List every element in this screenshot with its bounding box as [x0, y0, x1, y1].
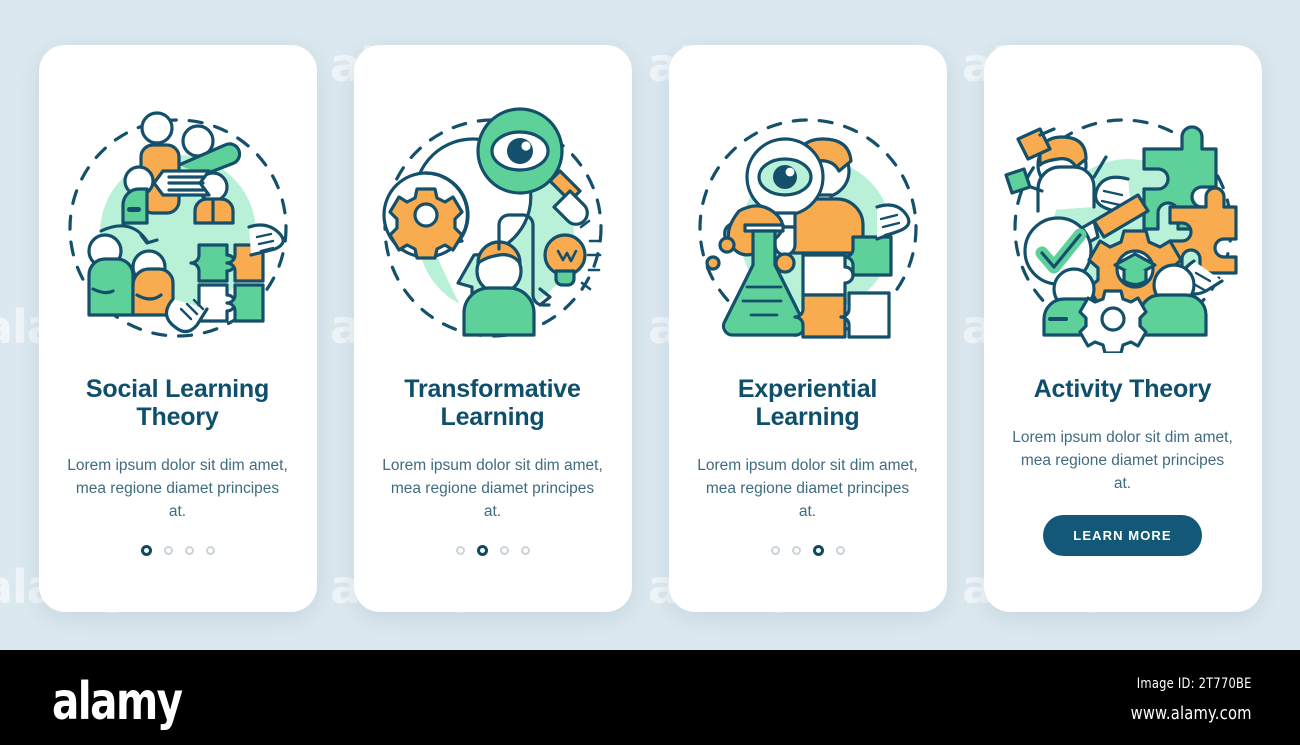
pagination-dot[interactable] [185, 546, 194, 555]
pagination-dots[interactable] [771, 545, 845, 556]
pagination-dot[interactable] [521, 546, 530, 555]
card-body-text: Lorem ipsum dolor sit dim amet, mea regi… [66, 455, 290, 524]
pagination-dot[interactable] [771, 546, 780, 555]
image-id-label: Image ID: 2T770BE [1131, 676, 1252, 692]
footer-meta: Image ID: 2T770BE www.alamy.com [1104, 676, 1252, 724]
card-footer [57, 545, 299, 556]
people-puzzle-collaboration-icon [53, 103, 303, 353]
pagination-dot[interactable] [164, 546, 173, 555]
card-title: Activity Theory [1002, 375, 1244, 403]
card-body-text: Lorem ipsum dolor sit dim amet, mea regi… [696, 455, 920, 524]
card-body-text: Lorem ipsum dolor sit dim amet, mea regi… [1011, 427, 1235, 496]
pagination-dots[interactable] [141, 545, 215, 556]
learn-more-button[interactable]: LEARN MORE [1043, 515, 1201, 556]
pagination-dot[interactable] [813, 545, 824, 556]
card-title: Experiential Learning [687, 375, 929, 431]
card-title: Social Learning Theory [57, 375, 299, 431]
pagination-dot[interactable] [456, 546, 465, 555]
onboarding-card-activity-theory[interactable]: Activity Theory Lorem ipsum dolor sit di… [984, 45, 1262, 612]
pagination-dot[interactable] [141, 545, 152, 556]
gears-graduation-puzzle-icon [998, 103, 1248, 353]
card-footer [687, 545, 929, 556]
onboarding-card-experiential-learning[interactable]: Experiential Learning Lorem ipsum dolor … [669, 45, 947, 612]
flask-magnifier-puzzle-icon [683, 103, 933, 353]
stock-photo-footer-bar: alamy Image ID: 2T770BE www.alamy.com [0, 650, 1300, 745]
card-footer: LEARN MORE [1002, 515, 1244, 556]
website-url-label: www.alamy.com [1131, 703, 1252, 724]
card-title: Transformative Learning [372, 375, 614, 431]
onboarding-card-transformative-learning[interactable]: Transformative Learning Lorem ipsum dolo… [354, 45, 632, 612]
alamy-logo: alamy [52, 672, 182, 732]
pagination-dot[interactable] [836, 546, 845, 555]
card-footer [372, 545, 614, 556]
onboarding-card-social-learning-theory[interactable]: Social Learning Theory Lorem ipsum dolor… [39, 45, 317, 612]
pagination-dot[interactable] [477, 545, 488, 556]
card-carousel: Social Learning Theory Lorem ipsum dolor… [0, 0, 1300, 650]
pagination-dot[interactable] [206, 546, 215, 555]
pagination-dot[interactable] [500, 546, 509, 555]
pagination-dots[interactable] [456, 545, 530, 556]
card-body-text: Lorem ipsum dolor sit dim amet, mea regi… [381, 455, 605, 524]
pagination-dot[interactable] [792, 546, 801, 555]
onboarding-screens-stage: alamy alamy alamy alamy alamy alamy alam… [0, 0, 1300, 650]
head-gear-magnifier-lightbulb-icon [368, 103, 618, 353]
